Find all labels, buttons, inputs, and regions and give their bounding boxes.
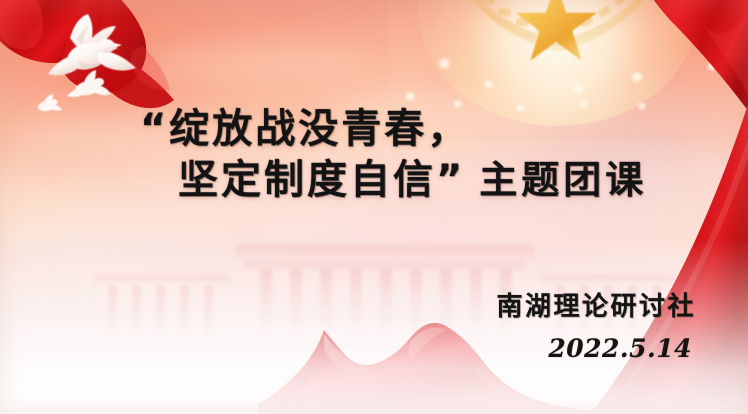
light-spot-10 (404, 92, 416, 101)
bottom-haze-overlay (0, 240, 748, 414)
cloud-wisp-2 (20, 118, 280, 154)
light-spot-6 (452, 100, 463, 108)
light-spot-7 (515, 104, 526, 112)
poster-canvas: “绽放战没青春， 坚定制度自信”主题团课 南湖理论研讨社 2022.5.14 (0, 0, 748, 414)
light-spot-1 (437, 58, 452, 69)
light-spot-3 (483, 80, 494, 89)
dove-icon-tiny (32, 93, 62, 115)
dove-icon-small (66, 68, 112, 102)
